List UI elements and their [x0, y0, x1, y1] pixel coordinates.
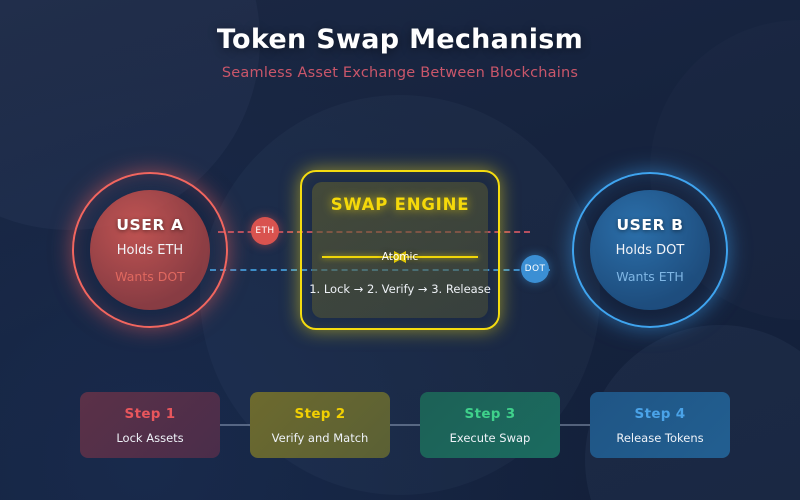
step-1-number: Step 1: [125, 406, 176, 422]
steps-row: Step 1 Lock Assets Step 2 Verify and Mat…: [80, 392, 720, 458]
step-2-number: Step 2: [295, 406, 346, 422]
step-4-label: Release Tokens: [616, 431, 703, 445]
user-b-name: USER B: [616, 216, 685, 234]
step-3-number: Step 3: [465, 406, 516, 422]
user-b-holds: Holds DOT: [616, 243, 685, 258]
page-subtitle: Seamless Asset Exchange Between Blockcha…: [0, 65, 800, 81]
step-card-1[interactable]: Step 1 Lock Assets: [80, 392, 220, 458]
user-a-text: USER A Holds ETH Wants DOT: [115, 216, 185, 284]
user-b-wants: Wants ETH: [616, 269, 685, 284]
swap-engine-panel[interactable]: SWAP ENGINE Atomic 1. Lock → 2. Verify →…: [300, 170, 500, 330]
dot-token-badge[interactable]: DOT: [521, 255, 549, 283]
step-connector-1: [220, 424, 250, 426]
step-card-3[interactable]: Step 3 Execute Swap: [420, 392, 560, 458]
step-1-label: Lock Assets: [116, 431, 183, 445]
user-b-node[interactable]: USER B Holds DOT Wants ETH: [572, 172, 728, 328]
user-a-node[interactable]: USER A Holds ETH Wants DOT: [72, 172, 228, 328]
step-connector-3: [560, 424, 590, 426]
page-title: Token Swap Mechanism: [0, 24, 800, 55]
swap-engine-process: 1. Lock → 2. Verify → 3. Release: [302, 282, 498, 296]
step-card-2[interactable]: Step 2 Verify and Match: [250, 392, 390, 458]
infographic-canvas: Token Swap Mechanism Seamless Asset Exch…: [0, 0, 800, 500]
header: Token Swap Mechanism Seamless Asset Exch…: [0, 24, 800, 81]
step-connector-2: [390, 424, 420, 426]
step-3-label: Execute Swap: [450, 431, 531, 445]
user-a-name: USER A: [115, 216, 185, 234]
user-b-text: USER B Holds DOT Wants ETH: [616, 216, 685, 284]
step-card-4[interactable]: Step 4 Release Tokens: [590, 392, 730, 458]
swap-engine-title: SWAP ENGINE: [302, 195, 498, 214]
user-a-holds: Holds ETH: [115, 243, 185, 258]
eth-token-badge[interactable]: ETH: [251, 217, 279, 245]
user-a-wants: Wants DOT: [115, 269, 185, 284]
atomic-swap-arrows: Atomic: [322, 249, 478, 265]
atomic-label: Atomic: [322, 249, 478, 265]
step-2-label: Verify and Match: [272, 431, 369, 445]
step-4-number: Step 4: [635, 406, 686, 422]
